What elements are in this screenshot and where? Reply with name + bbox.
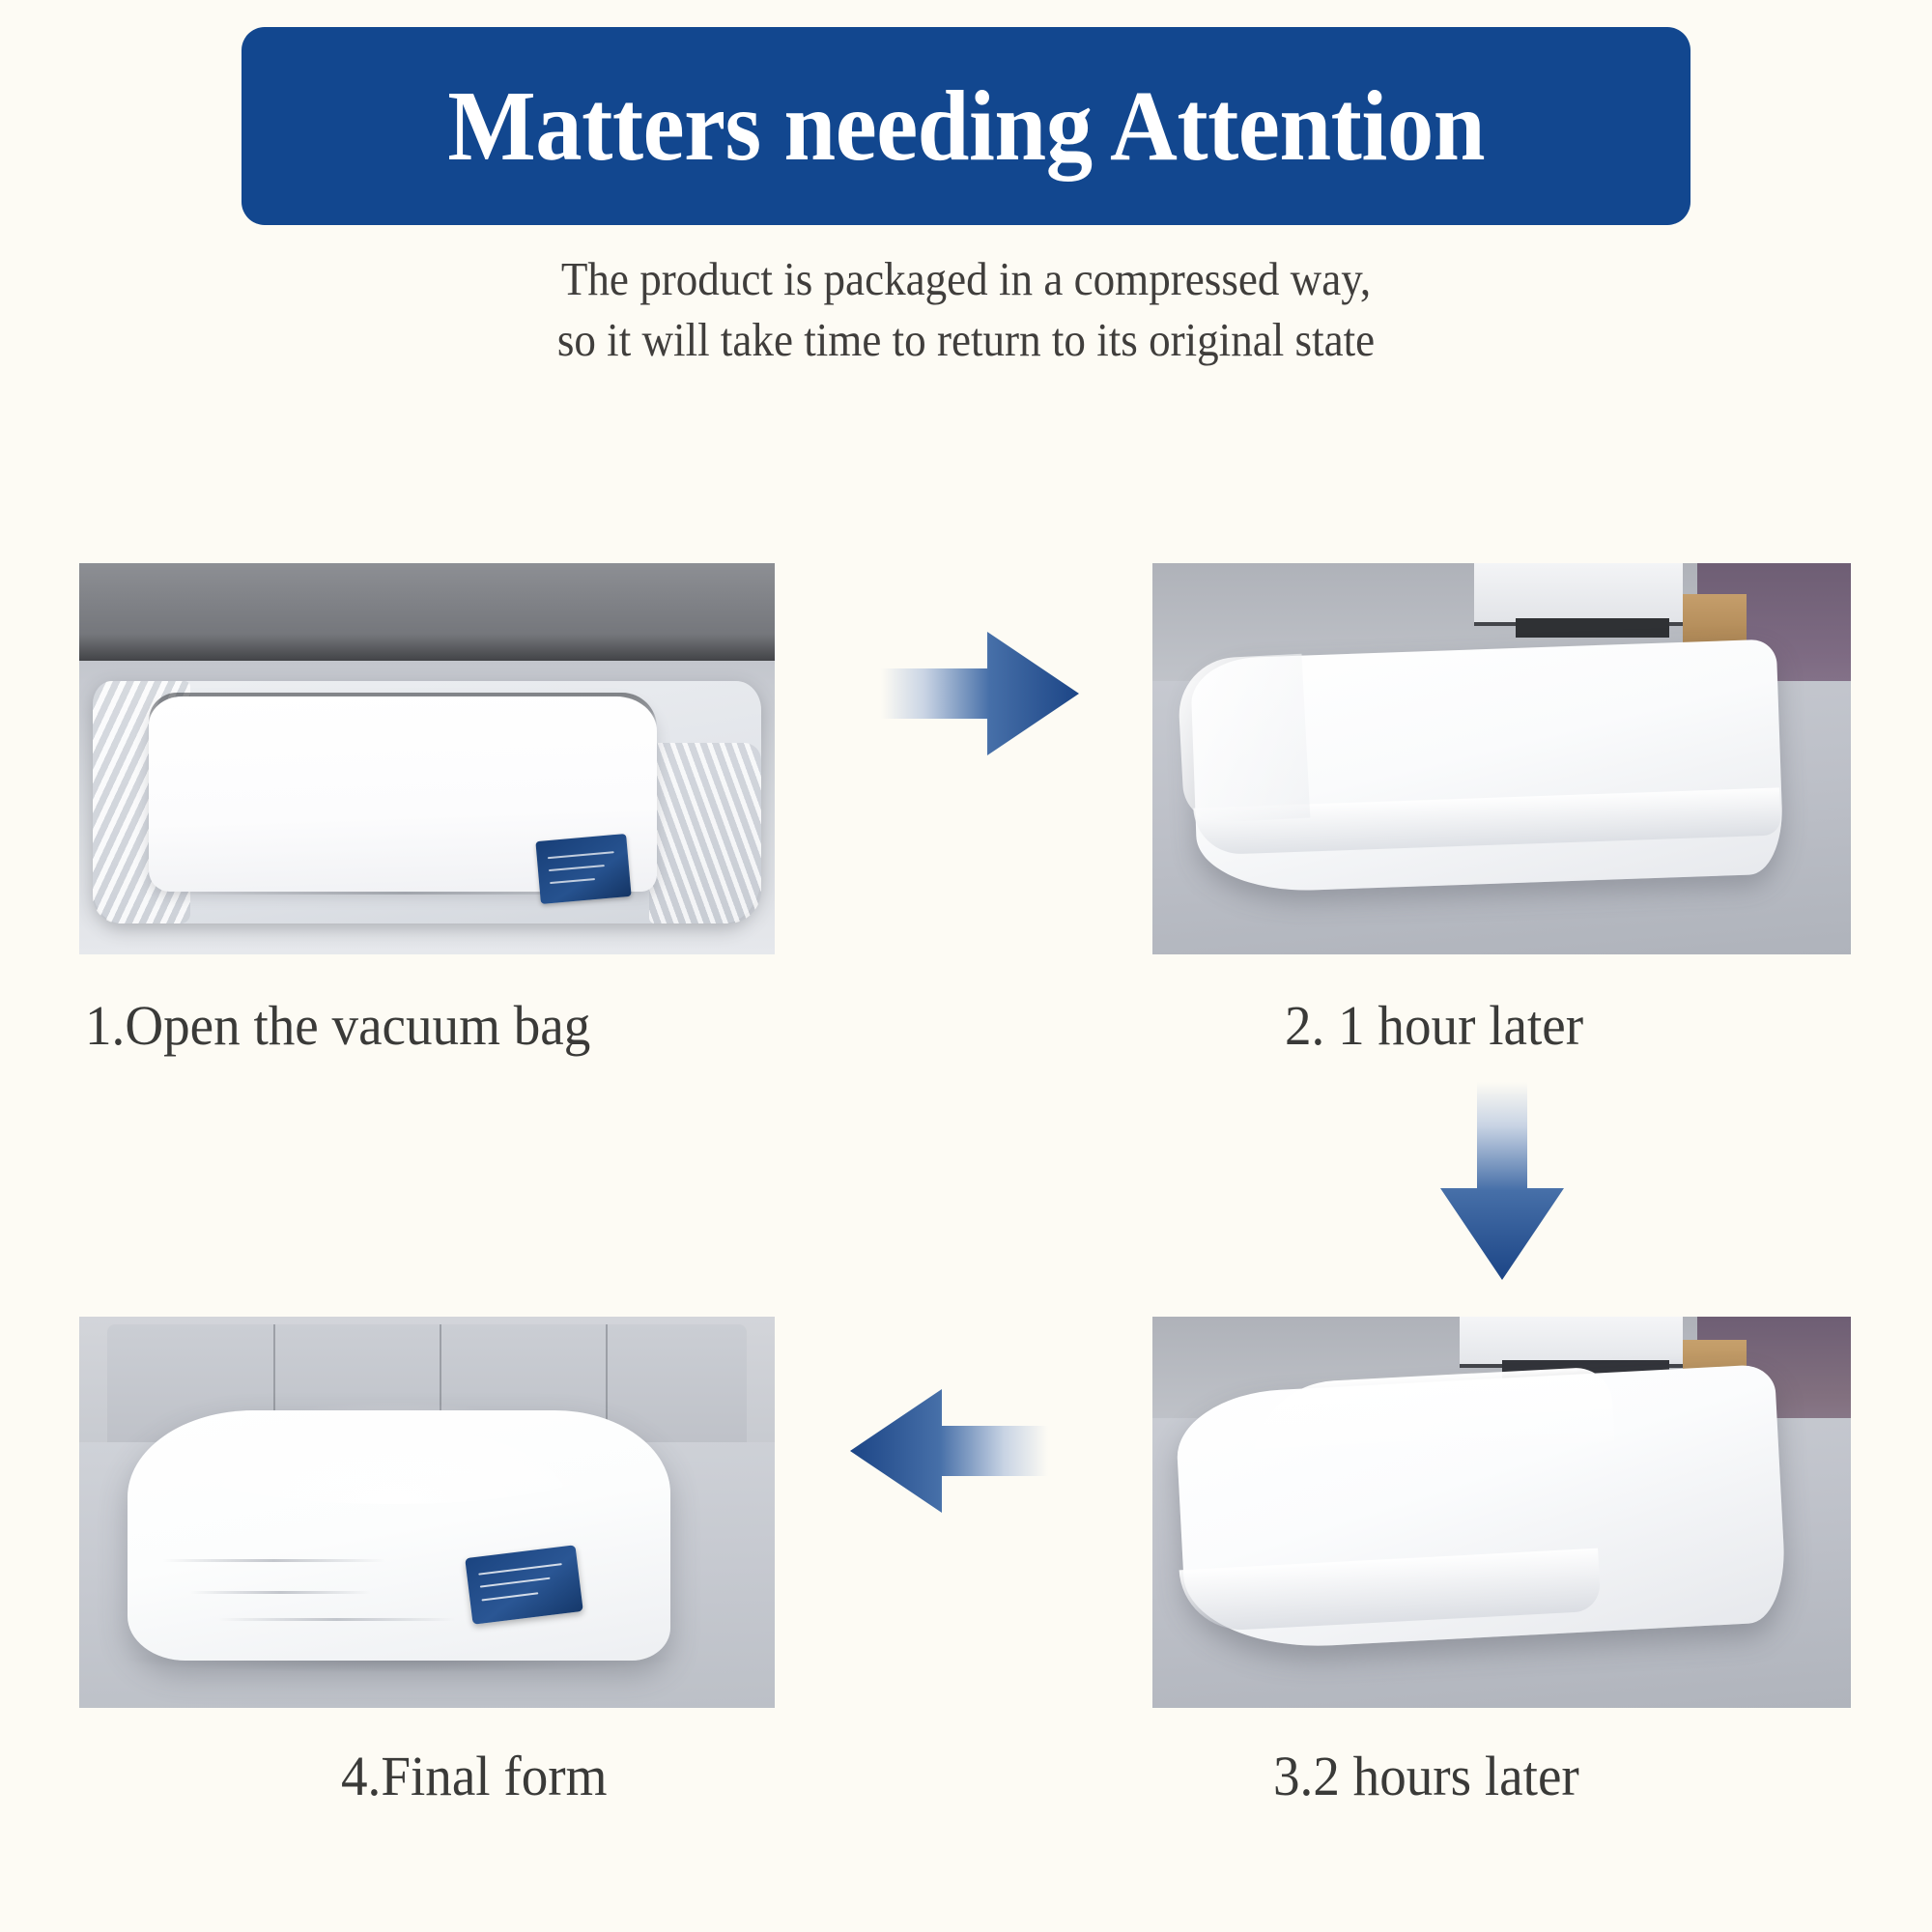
arrow-right-icon (881, 626, 1079, 761)
title-banner: Matters needing Attention (241, 27, 1690, 225)
step-3-photo (1152, 1317, 1851, 1708)
step-1-caption: 1.Open the vacuum bag (85, 993, 590, 1058)
pillow-brand-label (536, 834, 632, 904)
arrow-down-icon (1435, 1082, 1570, 1280)
step-4-caption: 4.Final form (341, 1744, 607, 1808)
arrow-left-icon (850, 1383, 1048, 1519)
step-2-caption: 2. 1 hour later (1285, 993, 1583, 1058)
step-4-photo (79, 1317, 775, 1708)
pillow-brand-label (465, 1545, 583, 1624)
pillow-edge-highlight (1177, 654, 1311, 825)
page-title: Matters needing Attention (447, 76, 1485, 177)
subtitle-line-2: so it will take time to return to its or… (77, 310, 1855, 371)
step-2-photo (1152, 563, 1851, 954)
step-3-caption: 3.2 hours later (1273, 1744, 1579, 1808)
nightstand-shelf (1474, 563, 1684, 626)
bed-headboard-backdrop (79, 563, 775, 665)
vacuum-bag-crinkle-right (649, 743, 760, 923)
step-1-photo (79, 563, 775, 954)
nightstand-shadow (1516, 618, 1669, 638)
pillow-loft-highlight (162, 1403, 621, 1504)
subtitle-block: The product is packaged in a compressed … (77, 249, 1855, 370)
subtitle-line-1: The product is packaged in a compressed … (77, 249, 1855, 310)
